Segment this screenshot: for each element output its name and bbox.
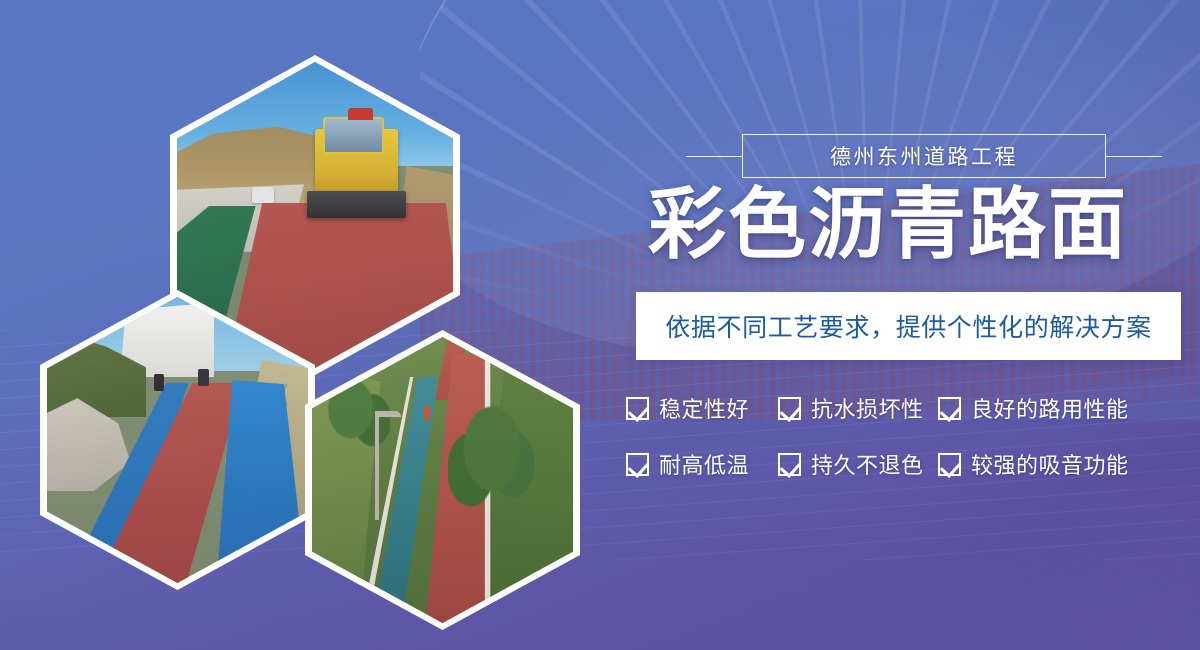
feature-list: 稳定性好 抗水损坏性 良好的路用性能 耐高低温 持久不退色 较强的吸音功能 [626, 392, 1192, 480]
feature-item: 稳定性好 [626, 392, 778, 424]
feature-label: 抗水损坏性 [811, 392, 924, 424]
tag-box: 德州东州道路工程 [742, 134, 1106, 178]
hex-photo-greenway-image [312, 337, 573, 623]
check-icon [626, 453, 649, 476]
check-icon [938, 453, 961, 476]
photo-overlay [312, 337, 573, 623]
brand-tag-label: 德州东州道路工程 [830, 141, 1018, 171]
photo-overlay [47, 297, 308, 583]
feature-item: 较强的吸音功能 [938, 448, 1144, 480]
page-title: 彩色沥青路面 [648, 185, 1188, 263]
subtitle-text: 依据不同工艺要求，提供个性化的解决方案 [665, 308, 1151, 344]
feature-label: 耐高低温 [659, 448, 749, 480]
feature-label: 良好的路用性能 [971, 392, 1129, 424]
feature-item: 持久不退色 [778, 448, 938, 480]
tag-rule-left [686, 156, 742, 157]
hex-photo-redblue-road-image [47, 297, 308, 583]
feature-label: 稳定性好 [659, 392, 749, 424]
feature-item: 良好的路用性能 [938, 392, 1144, 424]
check-icon [778, 397, 801, 420]
brand-tag: 德州东州道路工程 [686, 134, 1162, 178]
feature-item: 耐高低温 [626, 448, 778, 480]
tag-rule-right [1106, 156, 1162, 157]
check-icon [938, 397, 961, 420]
feature-item: 抗水损坏性 [778, 392, 938, 424]
feature-label: 较强的吸音功能 [971, 448, 1129, 480]
check-icon [626, 397, 649, 420]
check-icon [778, 453, 801, 476]
promo-banner: 德州东州道路工程 彩色沥青路面 依据不同工艺要求，提供个性化的解决方案 稳定性好… [0, 0, 1200, 650]
feature-label: 持久不退色 [811, 448, 924, 480]
subtitle-bar: 依据不同工艺要求，提供个性化的解决方案 [636, 292, 1181, 360]
banner-content: 德州东州道路工程 彩色沥青路面 依据不同工艺要求，提供个性化的解决方案 稳定性好… [612, 0, 1200, 650]
